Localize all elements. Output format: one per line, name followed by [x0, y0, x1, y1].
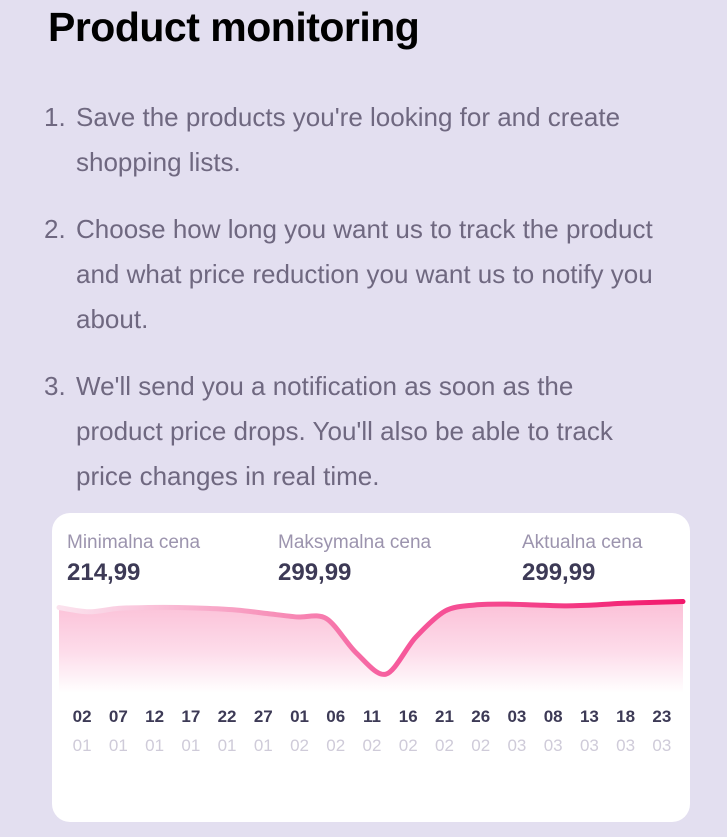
- axis-month-tick: 02: [463, 736, 499, 756]
- axis-month-tick: 02: [354, 736, 390, 756]
- axis-day-tick: 22: [209, 707, 245, 727]
- axis-month-tick: 03: [535, 736, 571, 756]
- axis-month-tick: 01: [64, 736, 100, 756]
- axis-day-tick: 21: [426, 707, 462, 727]
- axis-month-tick: 01: [136, 736, 172, 756]
- axis-month-ticks: 0101010101010202020202020303030303: [64, 736, 680, 756]
- axis-day-tick: 11: [354, 707, 390, 727]
- price-history-card: Minimalna cena 214,99 Maksymalna cena 29…: [52, 513, 690, 822]
- axis-day-tick: 01: [281, 707, 317, 727]
- step-text: Choose how long you want us to track the…: [76, 207, 666, 342]
- axis-month-tick: 03: [644, 736, 680, 756]
- axis-month-tick: 02: [281, 736, 317, 756]
- price-history-chart[interactable]: [52, 585, 690, 693]
- stat-current-price: Aktualna cena 299,99: [522, 531, 642, 588]
- axis-month-tick: 03: [608, 736, 644, 756]
- step-number: 3.: [44, 364, 76, 409]
- axis-day-tick: 26: [463, 707, 499, 727]
- axis-month-tick: 03: [571, 736, 607, 756]
- axis-month-tick: 01: [245, 736, 281, 756]
- axis-day-tick: 13: [571, 707, 607, 727]
- stat-value-current: 299,99: [522, 557, 642, 588]
- axis-month-tick: 01: [100, 736, 136, 756]
- step-text: We'll send you a notification as soon as…: [76, 364, 666, 499]
- axis-day-tick: 23: [644, 707, 680, 727]
- axis-day-tick: 08: [535, 707, 571, 727]
- stat-maximum-price: Maksymalna cena 299,99: [278, 531, 431, 588]
- axis-day-tick: 16: [390, 707, 426, 727]
- axis-month-tick: 01: [173, 736, 209, 756]
- steps-list: 1. Save the products you're looking for …: [44, 95, 684, 499]
- axis-month-tick: 03: [499, 736, 535, 756]
- axis-day-tick: 02: [64, 707, 100, 727]
- price-stats-row: Minimalna cena 214,99 Maksymalna cena 29…: [52, 513, 690, 589]
- stat-value-maximum: 299,99: [278, 557, 431, 588]
- stat-label-current: Aktualna cena: [522, 531, 642, 555]
- price-chart-svg[interactable]: [52, 585, 690, 693]
- axis-day-tick: 18: [608, 707, 644, 727]
- axis-day-tick: 12: [136, 707, 172, 727]
- step-number: 1.: [44, 95, 76, 140]
- axis-month-tick: 02: [426, 736, 462, 756]
- axis-day-tick: 07: [100, 707, 136, 727]
- axis-month-tick: 01: [209, 736, 245, 756]
- axis-day-tick: 27: [245, 707, 281, 727]
- stat-value-minimum: 214,99: [67, 557, 200, 588]
- axis-day-tick: 17: [173, 707, 209, 727]
- list-item: 1. Save the products you're looking for …: [44, 95, 684, 185]
- stat-label-maximum: Maksymalna cena: [278, 531, 431, 555]
- stat-minimum-price: Minimalna cena 214,99: [67, 531, 200, 588]
- axis-month-tick: 02: [390, 736, 426, 756]
- axis-day-tick: 03: [499, 707, 535, 727]
- axis-month-tick: 02: [318, 736, 354, 756]
- axis-day-tick: 06: [318, 707, 354, 727]
- list-item: 2. Choose how long you want us to track …: [44, 207, 684, 342]
- axis-day-ticks: 0207121722270106111621260308131823: [64, 707, 680, 727]
- step-number: 2.: [44, 207, 76, 252]
- page-title: Product monitoring: [48, 2, 419, 52]
- product-monitoring-page: Product monitoring 1. Save the products …: [0, 0, 727, 837]
- list-item: 3. We'll send you a notification as soon…: [44, 364, 684, 499]
- step-text: Save the products you're looking for and…: [76, 95, 666, 185]
- chart-axis: 0207121722270106111621260308131823 01010…: [52, 707, 690, 756]
- stat-label-minimum: Minimalna cena: [67, 531, 200, 555]
